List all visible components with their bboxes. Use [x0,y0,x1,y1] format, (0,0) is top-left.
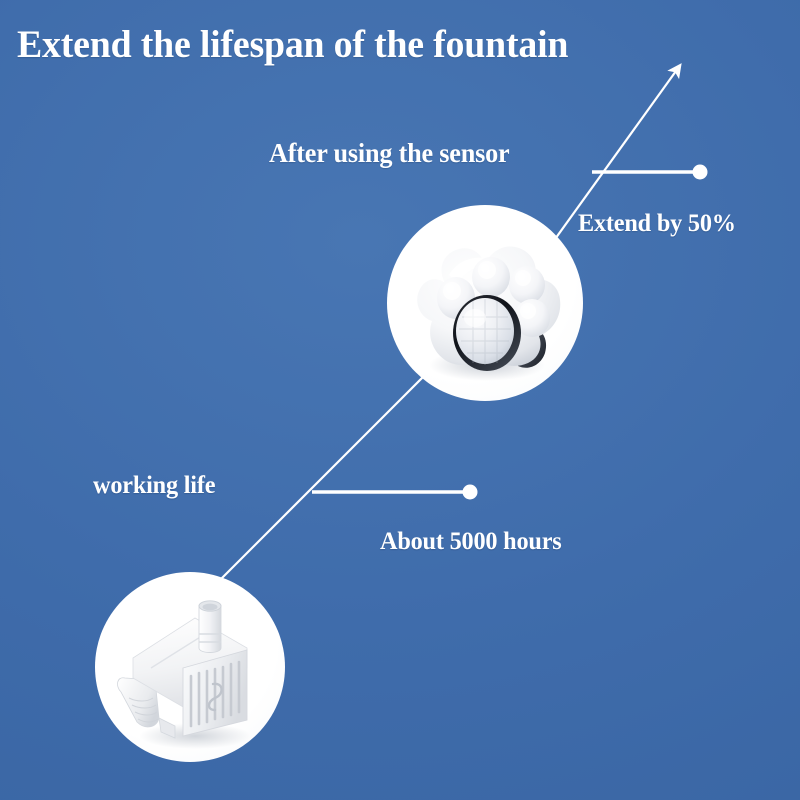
pir-lens-glint [464,309,486,327]
endpoint-dot-icon-sensor [693,165,708,180]
water-pump-icon [95,572,285,762]
sensor-connector-line [592,165,708,180]
pump-callout-heading: working life [93,470,215,502]
sensor-callout-value: Extend by 50% [578,208,736,240]
page-title: Extend the lifespan of the fountain [17,22,568,68]
paw-sensor-icon [387,205,583,401]
pump-product-photo [95,572,285,762]
endpoint-dot-icon-pump [463,485,478,500]
sensor-product-photo [387,205,583,401]
sensor-callout-heading: After using the sensor [269,136,509,170]
paw-toe-1-highlight [443,282,461,300]
pump-callout-value: About 5000 hours [380,526,562,558]
paw-toe-3-highlight [515,270,531,286]
paw-toe-2-highlight [478,261,496,279]
pump-connector-line [312,485,478,500]
paw-toe-4-highlight [520,303,536,319]
pump-outlet-bore [203,604,218,611]
infographic-canvas: Extend the lifespan of the fountain Afte… [0,0,800,800]
